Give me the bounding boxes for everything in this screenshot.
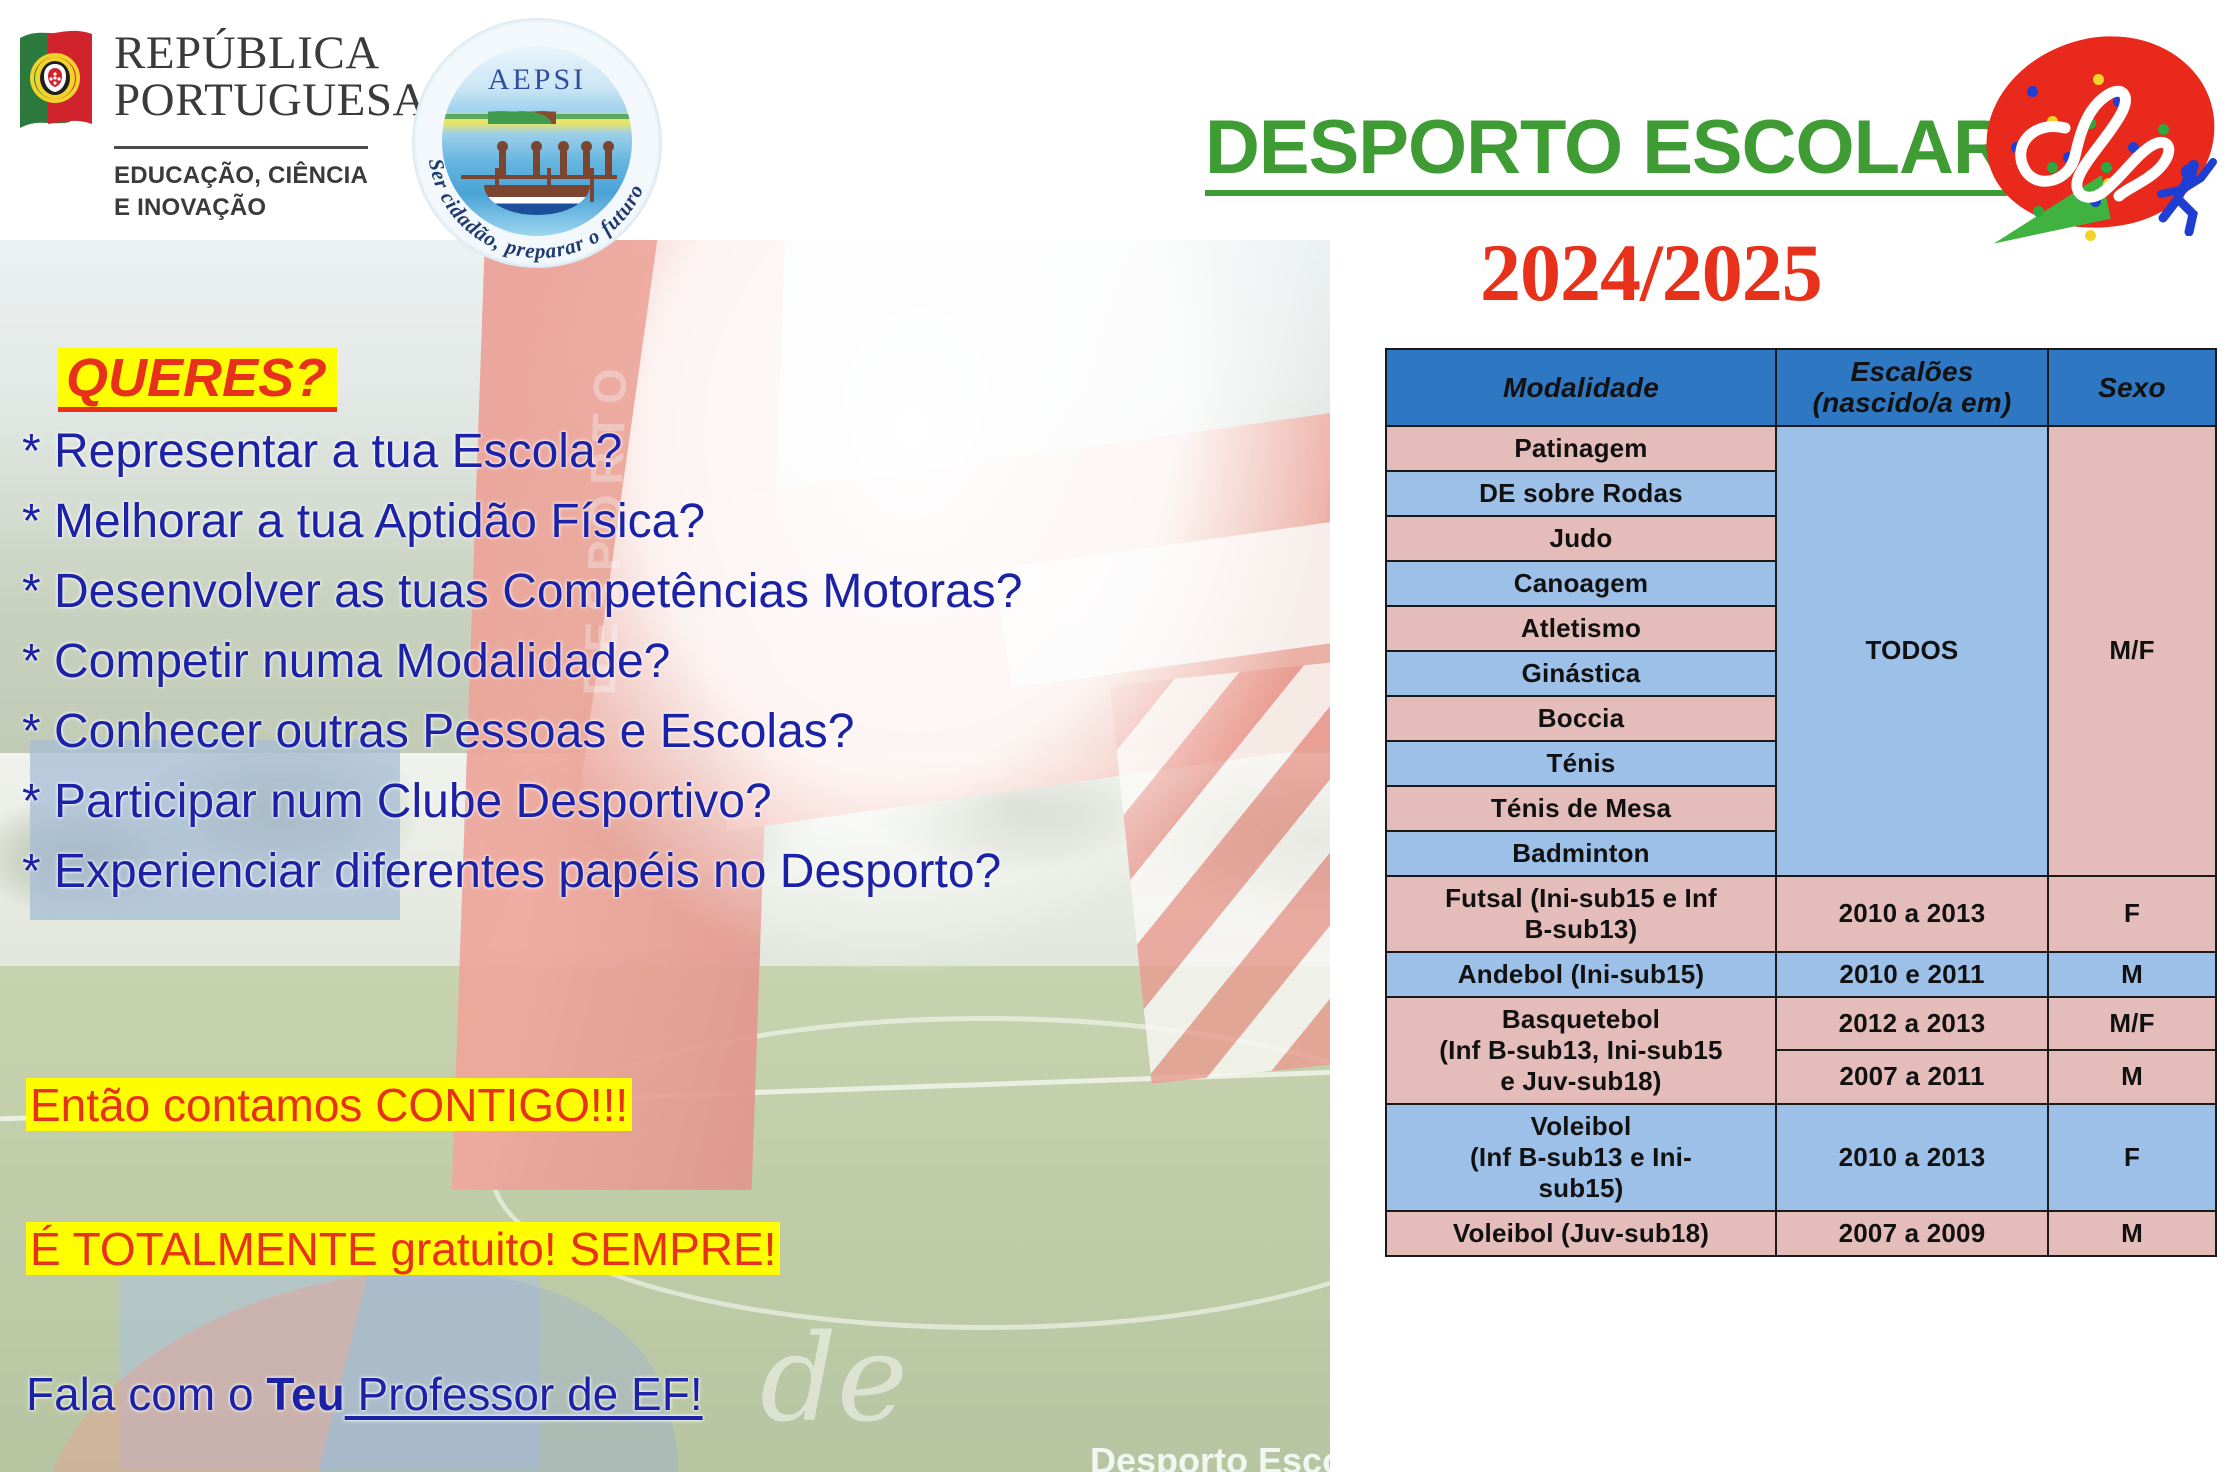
list-item: * Participar num Clube Desportivo? (22, 778, 1342, 826)
cell-sexo: M/F (2048, 997, 2216, 1051)
cell-escaloes-todos: TODOS (1776, 426, 2048, 876)
list-item: * Representar a tua Escola? (22, 428, 1342, 476)
cell-modalidade-futsal: Futsal (Ini-sub15 e Inf B-sub13) (1386, 876, 1776, 952)
sports-table: Modalidade Escalões (nascido/a em) Sexo … (1385, 348, 2217, 1257)
list-item: * Competir numa Modalidade? (22, 638, 1342, 686)
cell-modalidade: Canoagem (1386, 561, 1776, 606)
de-runner-icon (2149, 156, 2219, 236)
column-header-sexo: Sexo (2048, 349, 2216, 426)
list-item: * Melhorar a tua Aptidão Física? (22, 498, 1342, 546)
voleibol-line-1: Voleibol (1531, 1111, 1632, 1141)
aepsi-motto-text: Ser cidadão, preparar o futuro (424, 157, 649, 263)
desporto-escolar-logo (1985, 38, 2225, 238)
cell-modalidade: Ginástica (1386, 651, 1776, 696)
sports-table-wrapper: Modalidade Escalões (nascido/a em) Sexo … (1385, 348, 2215, 1257)
cell-modalidade-basquetebol: Basquetebol (Inf B-sub13, Ini-sub15 e Ju… (1386, 997, 1776, 1104)
cell-modalidade: Atletismo (1386, 606, 1776, 651)
cta-professor-bold: Teu (266, 1368, 344, 1420)
list-item: * Conhecer outras Pessoas e Escolas? (22, 708, 1342, 756)
voleibol-line-2: (Inf B-sub13 e Ini- (1470, 1142, 1692, 1172)
cell-sexo: M (2048, 1050, 2216, 1104)
futsal-line-1: Futsal (Ini-sub15 e Inf (1445, 883, 1717, 913)
cell-modalidade: Boccia (1386, 696, 1776, 741)
cell-sexo: F (2048, 1104, 2216, 1211)
table-row: Voleibol (Juv-sub18) 2007 a 2009 M (1386, 1211, 2216, 1256)
aepsi-motto-arc: Ser cidadão, preparar o futuro (412, 18, 662, 268)
page-title: DESPORTO ESCOLAR (1205, 110, 2007, 196)
cell-modalidade-voleibol: Voleibol (Inf B-sub13 e Ini- sub15) (1386, 1104, 1776, 1211)
promo-bullet-list: * Representar a tua Escola? * Melhorar a… (22, 428, 1342, 918)
basquetebol-line-1: Basquetebol (1502, 1004, 1660, 1034)
promo-cta-professor: Fala com o Teu Professor de EF! (26, 1370, 703, 1418)
poster-canvas: DESPORTO de Desporto Escolar orto Escola… (0, 0, 2240, 1472)
cell-sexo: M (2048, 952, 2216, 997)
cell-sexo-todos: M/F (2048, 426, 2216, 876)
basquetebol-line-3: e Juv-sub18) (1500, 1066, 1661, 1096)
cell-modalidade: Judo (1386, 516, 1776, 561)
cell-escaloes: 2010 a 2013 (1776, 1104, 2048, 1211)
cell-escaloes: 2010 e 2011 (1776, 952, 2048, 997)
cell-sexo: M (2048, 1211, 2216, 1256)
photo-script-watermark: de (760, 1310, 908, 1449)
aepsi-school-logo: AEPSI Ser cidadão, preparar o futuro (412, 18, 662, 268)
cell-modalidade: Patinagem (1386, 426, 1776, 471)
cell-modalidade: Voleibol (Juv-sub18) (1386, 1211, 1776, 1256)
promo-cta-gratuito: É TOTALMENTE gratuito! SEMPRE! (26, 1222, 780, 1275)
column-header-escaloes: Escalões (nascido/a em) (1776, 349, 2048, 426)
column-header-modalidade: Modalidade (1386, 349, 1776, 426)
ministry-line-2: E INOVAÇÃO (114, 192, 368, 224)
cell-escaloes: 2007 a 2011 (1776, 1050, 2048, 1104)
cta-professor-prefix: Fala com o (26, 1368, 266, 1420)
escaloes-line-2: (nascido/a em) (1813, 387, 2012, 418)
table-header-row: Modalidade Escalões (nascido/a em) Sexo (1386, 349, 2216, 426)
cell-modalidade: Badminton (1386, 831, 1776, 876)
table-row: Basquetebol (Inf B-sub13, Ini-sub15 e Ju… (1386, 997, 2216, 1051)
table-header: Modalidade Escalões (nascido/a em) Sexo (1386, 349, 2216, 426)
portugal-flag-icon (18, 26, 96, 176)
cell-modalidade: DE sobre Rodas (1386, 471, 1776, 516)
de-dot-17 (2085, 230, 2096, 241)
futsal-line-2: B-sub13) (1525, 914, 1638, 944)
republic-line-1: REPÚBLICA (114, 30, 427, 77)
escaloes-line-1: Escalões (1850, 356, 1973, 387)
promo-heading: QUERES? (58, 348, 337, 412)
list-item: * Experienciar diferentes papéis no Desp… (22, 848, 1342, 896)
basquetebol-line-2: (Inf B-sub13, Ini-sub15 (1439, 1035, 1722, 1065)
voleibol-line-3: sub15) (1538, 1173, 1623, 1203)
republic-divider (114, 146, 368, 149)
ministry-name: EDUCAÇÃO, CIÊNCIA E INOVAÇÃO (114, 160, 368, 225)
cell-escaloes: 2010 a 2013 (1776, 876, 2048, 952)
table-body: Patinagem TODOS M/F DE sobre Rodas Judo … (1386, 426, 2216, 1256)
cell-modalidade: Ténis de Mesa (1386, 786, 1776, 831)
table-row: Patinagem TODOS M/F (1386, 426, 2216, 471)
cell-escaloes: 2007 a 2009 (1776, 1211, 2048, 1256)
cell-modalidade: Ténis (1386, 741, 1776, 786)
republic-line-2: PORTUGUESA (114, 77, 427, 124)
page-subtitle-year: 2024/2025 (1480, 232, 1822, 314)
table-row: Voleibol (Inf B-sub13 e Ini- sub15) 2010… (1386, 1104, 2216, 1211)
cell-escaloes: 2012 a 2013 (1776, 997, 2048, 1051)
table-row: Andebol (Ini-sub15) 2010 e 2011 M (1386, 952, 2216, 997)
cell-sexo: F (2048, 876, 2216, 952)
republic-name: REPÚBLICA PORTUGUESA (114, 30, 427, 124)
cell-modalidade: Andebol (Ini-sub15) (1386, 952, 1776, 997)
ministry-line-1: EDUCAÇÃO, CIÊNCIA (114, 160, 368, 192)
cta-professor-underline: Professor de EF! (345, 1368, 703, 1420)
republica-portuguesa-logo: REPÚBLICA PORTUGUESA EDUCAÇÃO, CIÊNCIA E… (18, 20, 378, 220)
promo-cta-contamos: Então contamos CONTIGO!!! (26, 1078, 632, 1131)
list-item: * Desenvolver as tuas Competências Motor… (22, 568, 1342, 616)
table-row: Futsal (Ini-sub15 e Inf B-sub13) 2010 a … (1386, 876, 2216, 952)
